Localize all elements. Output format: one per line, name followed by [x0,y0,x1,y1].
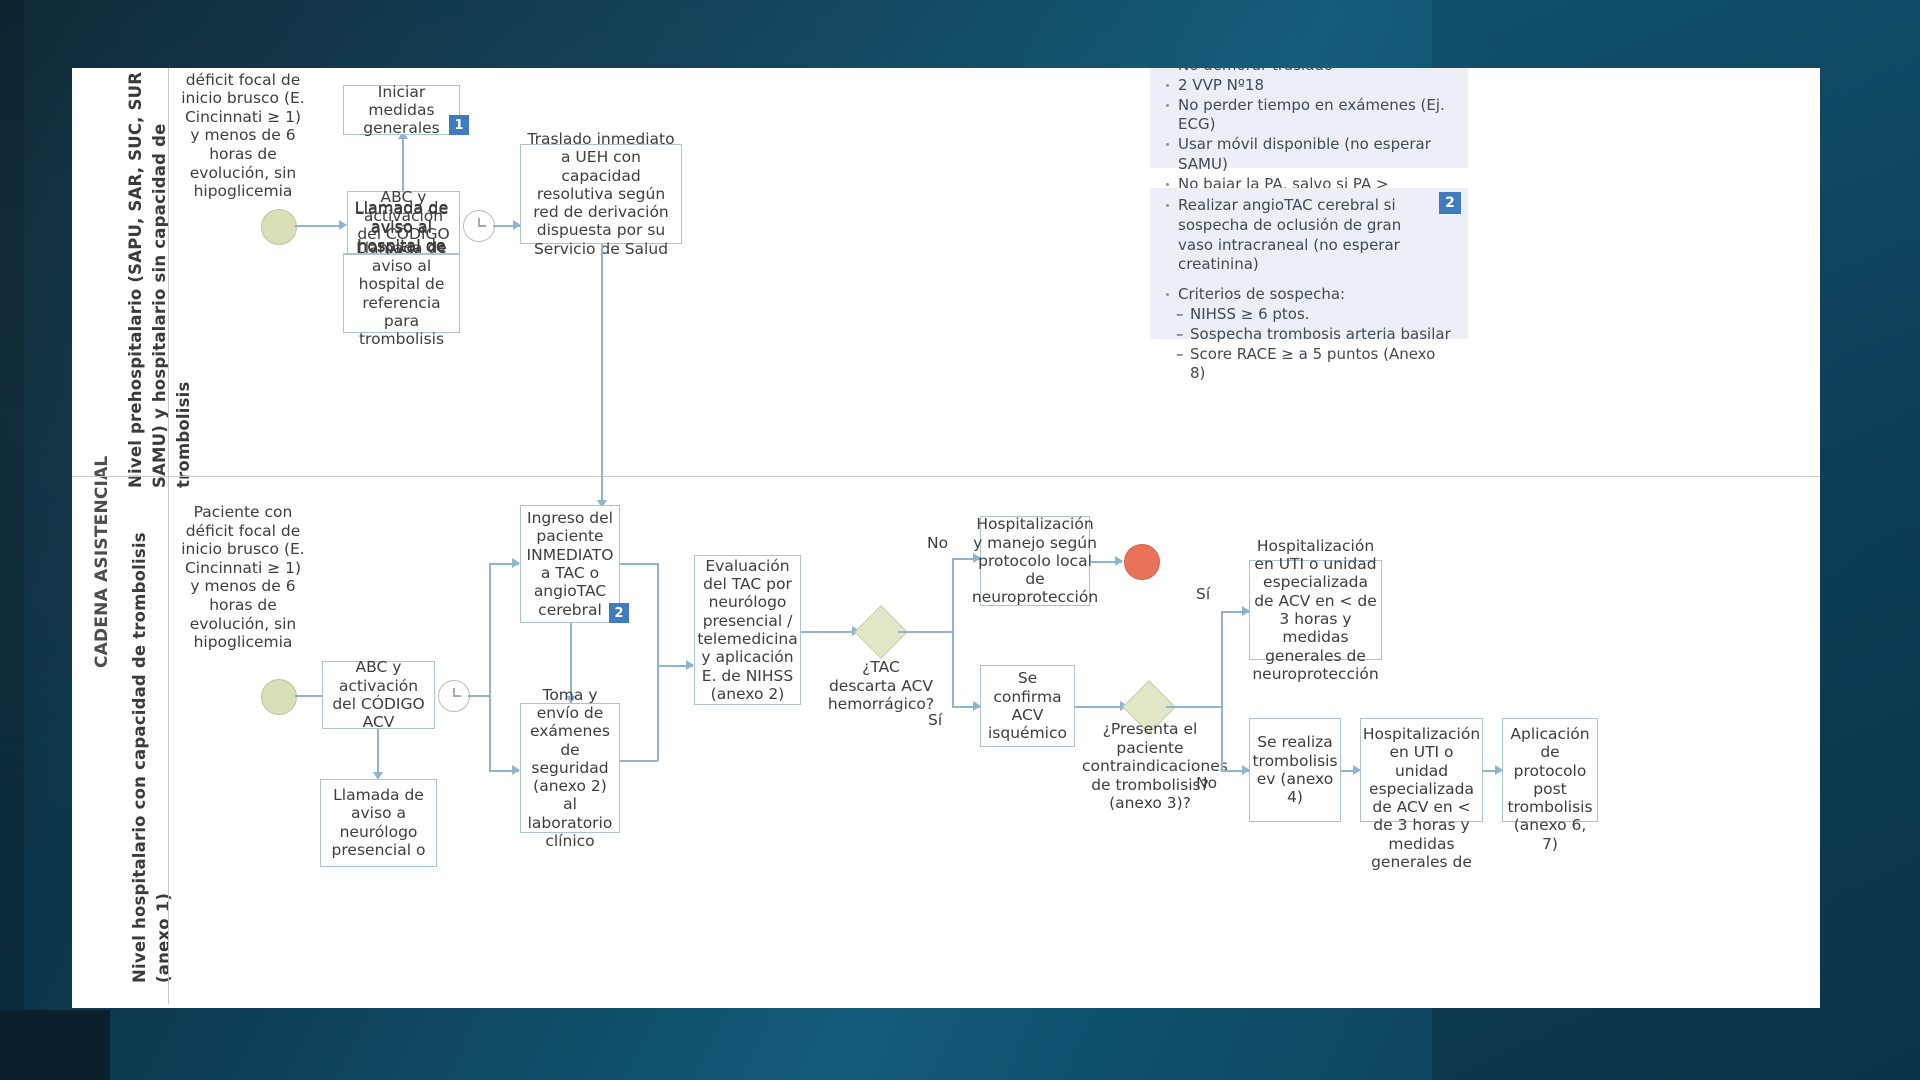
clock-icon-lane2 [438,680,470,712]
connector-lane2-diamond-branch [952,558,954,708]
info-panel-1: No demorar traslado 2 VVP Nº18 No perder… [1150,68,1468,168]
lane1-entry-text: Paciente con déficit focal de inicio bru… [178,68,308,201]
master-label: CADENA ASISTENCIAL [92,408,112,668]
connector-lane1-traslado-down [601,244,603,504]
connector-lane2-join-vert [657,563,659,761]
lane1-start-circle [261,209,297,245]
edge-label-contra-no: No [1196,774,1217,792]
info-item: Criterios de sospecha: [1164,285,1454,305]
lane2-node-hosp-uti-no[interactable]: Hospitalización en UTI o unidad especial… [1360,718,1483,822]
lane2-node-trombolisis[interactable]: Se realiza trombolisis ev (anexo 4) [1249,718,1341,822]
arrowhead-lane2-toma-in [512,765,520,775]
lane-divider-vertical [168,68,169,1004]
connector-lane2-ingreso-out [620,563,658,565]
lane1-node-traslado[interactable]: Traslado inmediato a UEH con capacidad r… [520,144,682,244]
info-spacer [1164,275,1454,285]
connector-lane2-contra-stem [1166,706,1222,708]
connector-lane2-abc-right [468,695,490,697]
arrowhead-lane2-riser-ingreso [512,558,520,568]
info-item: No demorar traslado [1164,68,1454,76]
lane2-node-evaluacion[interactable]: Evaluación del TAC por neurólogo presenc… [694,555,801,705]
lane2-node-confirma[interactable]: Se confirma ACV isquémico [980,665,1075,747]
info-item: Usar móvil disponible (no esperar SAMU) [1164,135,1454,175]
info-item: Realizar angioTAC cerebral si sospecha d… [1164,196,1454,275]
edge-label-contra-si: Sí [1196,585,1210,603]
info-panel-2-tag: 2 [1439,192,1461,214]
connector-lane2-abc-riser [489,563,491,696]
lane2-node-hosp-uti-si[interactable]: Hospitalización en UTI o unidad especial… [1249,560,1382,660]
info-panel-2-list: Realizar angioTAC cerebral si sospecha d… [1164,196,1454,384]
slide-viewer: CADENA ASISTENCIAL Nivel prehospitalario… [0,0,1920,1080]
diagram-sheet: CADENA ASISTENCIAL Nivel prehospitalario… [72,68,1820,1008]
info-panel-2: Realizar angioTAC cerebral si sospecha d… [1150,188,1468,339]
arrowhead-lane2-hospneuro-end [1115,556,1123,566]
connector-lane2-abc-llamada [377,729,379,777]
connector-lane2-eval-diamond [801,631,859,633]
lane2-decision-tac-label: ¿TAC descarta ACV hemorrágico? [827,658,935,714]
lane2-node-abc[interactable]: ABC y activación del CÓDIGO ACV [322,661,435,729]
info-item: NIHSS ≥ 6 ptos. [1164,305,1454,325]
lane-label-hospital: Nivel hospitalario con capacidad de trom… [128,483,152,983]
lane2-end-circle [1124,544,1160,580]
lane2-node-llamada-neuro[interactable]: Llamada de aviso a neurólogo presencial … [320,779,437,867]
arrowhead-lane2-join-eval [686,660,694,670]
info-item: 2 VVP Nº18 [1164,76,1454,96]
edge-label-tac-si: Sí [928,711,942,729]
connector-lane2-abc-down-toma [489,695,491,771]
arrowhead-lane1-start-abc [339,220,347,230]
lane2-tag-2: 2 [609,603,629,623]
lane2-start-circle [261,679,297,715]
connector-lane2-contra-branch [1221,611,1223,771]
info-item: Score RACE ≥ a 5 puntos (Anexo 8) [1164,345,1454,385]
lane1-node-medidas[interactable]: Iniciar medidas generales [343,85,460,135]
lane2-node-hosp-neuro[interactable]: Hospitalización y manejo según protocolo… [980,516,1090,606]
connector-lane2-diamond-stem [898,631,953,633]
lane-label-prehospital: Nivel prehospitalario (SAPU, SAR, SUC, S… [124,68,170,488]
info-item: No perder tiempo en exámenes (Ej. ECG) [1164,96,1454,136]
info-item: Sospecha trombosis arteria basilar [1164,325,1454,345]
lane-divider-horizontal [72,476,1820,477]
lane2-decision-contra-label: ¿Presenta el paciente contraindicaciones… [1082,720,1218,813]
connector-lane2-toma-out [620,760,658,762]
connector-lane1-start-abc [295,225,343,227]
lane1-tag-1: 1 [449,115,469,135]
clock-icon [463,210,495,242]
lane2-node-toma[interactable]: Toma y envío de exámenes de seguridad (a… [520,703,620,833]
lane1-node-llamada-visible[interactable]: Llamada de aviso al hospital de referenc… [343,254,460,333]
edge-label-tac-no: No [927,534,948,552]
lane2-node-post[interactable]: Aplicación de protocolo post trombolisis… [1502,718,1598,822]
lane2-node-ingreso[interactable]: Ingreso del paciente INMEDIATO a TAC o a… [520,505,620,623]
lane2-entry-text: Paciente con déficit focal de inicio bru… [178,503,308,652]
connector-lane1-abc-medidas [402,136,404,192]
